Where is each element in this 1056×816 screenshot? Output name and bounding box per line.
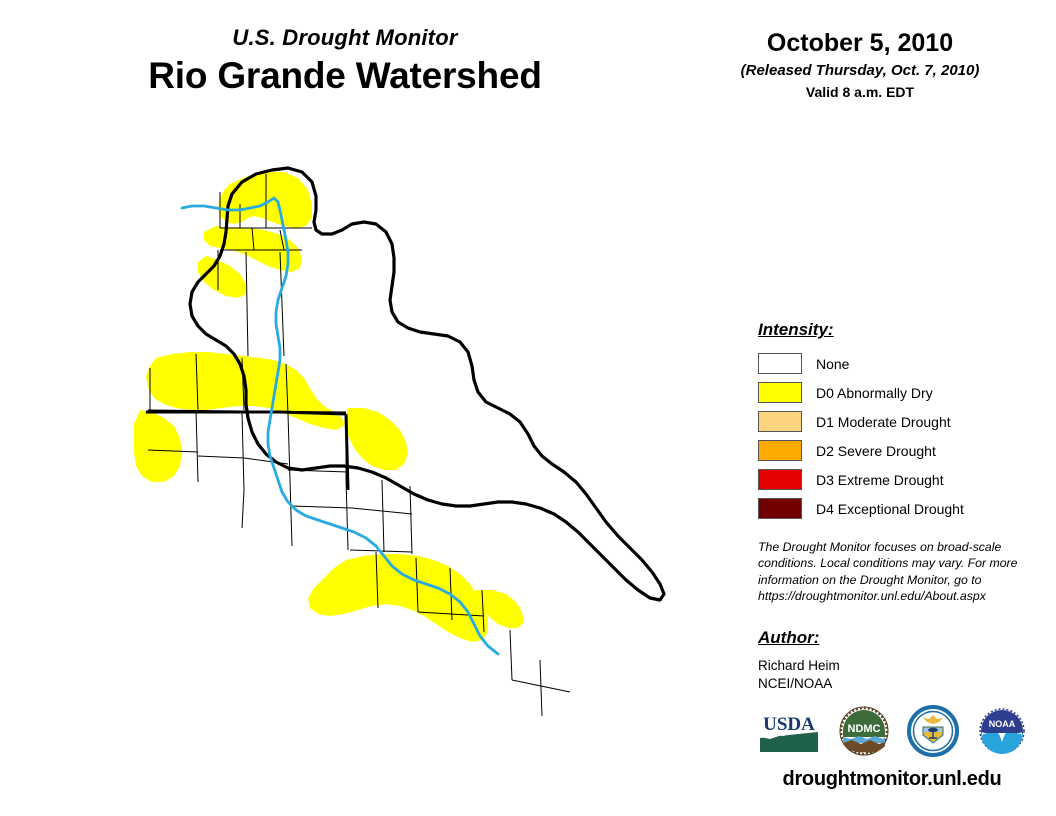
legend-label-d4: D4 Exceptional Drought <box>816 501 964 517</box>
legend-item-none[interactable]: None <box>758 349 1028 378</box>
legend-item-d3[interactable]: D3 Extreme Drought <box>758 465 1028 494</box>
author-block: Author: Richard Heim NCEI/NOAA <box>758 628 1020 693</box>
noaa-commerce-seal <box>907 705 959 757</box>
program-title: U.S. Drought Monitor <box>60 26 630 50</box>
author-name: Richard Heim <box>758 657 1020 675</box>
date-block: October 5, 2010 (Released Thursday, Oct.… <box>700 30 1020 100</box>
valid-date: October 5, 2010 <box>700 30 1020 58</box>
ndmc-logo-text: NDMC <box>847 723 880 735</box>
author-heading: Author: <box>758 628 1020 648</box>
logo-strip: USDA NDMC NOAA <box>758 703 1026 759</box>
noaa-logo-text: NOAA <box>989 719 1016 729</box>
released-date: (Released Thursday, Oct. 7, 2010) <box>700 62 1020 80</box>
legend-swatch-none <box>758 353 802 374</box>
usda-logo-text: USDA <box>763 714 815 735</box>
page-title: Rio Grande Watershed <box>60 55 630 98</box>
legend-item-d0[interactable]: D0 Abnormally Dry <box>758 378 1028 407</box>
ndmc-logo: NDMC <box>839 706 889 756</box>
legend-swatch-d3 <box>758 469 802 490</box>
legend-item-d2[interactable]: D2 Severe Drought <box>758 436 1028 465</box>
legend-label-d3: D3 Extreme Drought <box>816 472 944 488</box>
usda-logo: USDA <box>758 708 820 754</box>
disclaimer-text: The Drought Monitor focuses on broad-sca… <box>758 539 1020 604</box>
legend-item-d1[interactable]: D1 Moderate Drought <box>758 407 1028 436</box>
legend-swatch-d2 <box>758 440 802 461</box>
legend-label-d0: D0 Abnormally Dry <box>816 385 933 401</box>
title-block: U.S. Drought Monitor Rio Grande Watershe… <box>60 26 630 98</box>
legend-label-none: None <box>816 356 849 372</box>
valid-time: Valid 8 a.m. EDT <box>700 84 1020 101</box>
legend-swatch-d4 <box>758 498 802 519</box>
legend-heading: Intensity: <box>758 320 1028 340</box>
legend-swatch-d1 <box>758 411 802 432</box>
author-affiliation: NCEI/NOAA <box>758 675 1020 693</box>
drought-area-d0 <box>134 172 524 642</box>
legend-label-d1: D1 Moderate Drought <box>816 414 951 430</box>
rio-grande-watershed-drought-map <box>120 160 680 800</box>
site-url[interactable]: droughtmonitor.unl.edu <box>758 768 1026 791</box>
legend-label-d2: D2 Severe Drought <box>816 443 936 459</box>
legend-item-d4[interactable]: D4 Exceptional Drought <box>758 494 1028 523</box>
noaa-logo: NOAA <box>978 707 1026 755</box>
legend: Intensity: None D0 Abnormally Dry D1 Mod… <box>758 320 1028 523</box>
legend-swatch-d0 <box>758 382 802 403</box>
